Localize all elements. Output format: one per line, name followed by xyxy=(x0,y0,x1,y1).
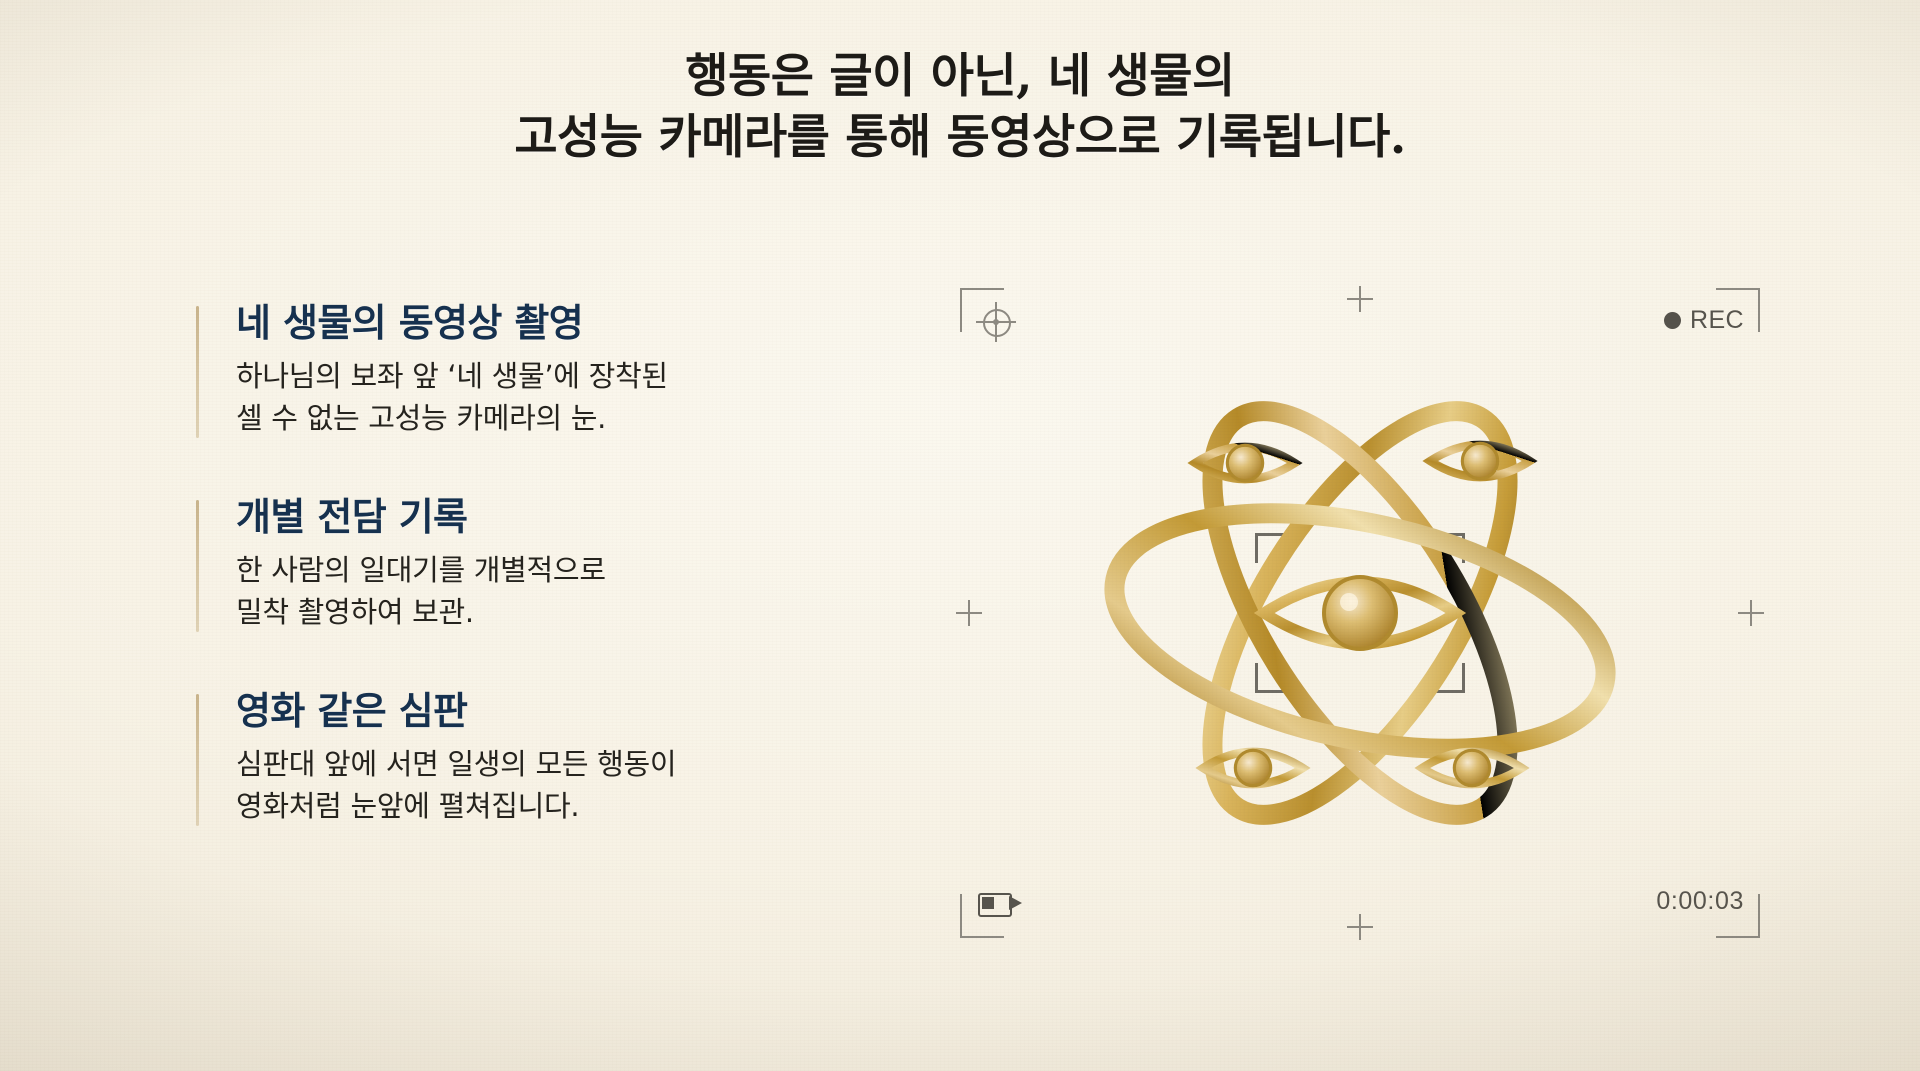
feature-body: 한 사람의 일대기를 개별적으로 밀착 촬영하여 보관. xyxy=(236,550,896,634)
feature-item-3: 영화 같은 심판 심판대 앞에 서면 일생의 모든 행동이 영화처럼 눈앞에 펼… xyxy=(196,688,896,828)
crosshair-mark-right-icon xyxy=(1738,600,1764,626)
feature-body: 심판대 앞에 서면 일생의 모든 행동이 영화처럼 눈앞에 펼쳐집니다. xyxy=(236,744,896,828)
accent-rule xyxy=(196,694,199,826)
page-title: 행동은 글이 아닌, 네 생물의 고성능 카메라를 통해 동영상으로 기록됩니다… xyxy=(0,46,1920,168)
accent-rule xyxy=(196,306,199,438)
feature-item-2: 개별 전담 기록 한 사람의 일대기를 개별적으로 밀착 촬영하여 보관. xyxy=(196,494,896,634)
crosshair-mark-left-icon xyxy=(956,600,982,626)
crosshair-mark-top-icon xyxy=(1347,286,1373,312)
feature-body-line-2: 영화처럼 눈앞에 펼쳐집니다. xyxy=(236,786,896,828)
feature-body-line-1: 심판대 앞에 서면 일생의 모든 행동이 xyxy=(236,744,896,786)
feature-heading: 개별 전담 기록 xyxy=(236,494,896,540)
feature-body: 하나님의 보좌 앞 ‘네 생물’에 장착된 셀 수 없는 고성능 카메라의 눈. xyxy=(236,356,896,440)
feature-item-1: 네 생물의 동영상 촬영 하나님의 보좌 앞 ‘네 생물’에 장착된 셀 수 없… xyxy=(196,300,896,440)
feature-body-line-2: 밀착 촬영하여 보관. xyxy=(236,592,896,634)
slide-canvas: 행동은 글이 아닌, 네 생물의 고성능 카메라를 통해 동영상으로 기록됩니다… xyxy=(0,0,1920,1071)
feature-body-line-1: 하나님의 보좌 앞 ‘네 생물’에 장착된 xyxy=(236,356,896,398)
title-line-2: 고성능 카메라를 통해 동영상으로 기록됩니다. xyxy=(0,107,1920,168)
accent-rule xyxy=(196,500,199,632)
feature-heading: 영화 같은 심판 xyxy=(236,688,896,734)
camera-viewfinder: REC 0:00:03 xyxy=(960,288,1760,938)
crosshair-mark-bottom-icon xyxy=(1347,914,1373,940)
feature-list: 네 생물의 동영상 촬영 하나님의 보좌 앞 ‘네 생물’에 장착된 셀 수 없… xyxy=(196,300,896,828)
feature-body-line-2: 셀 수 없는 고성능 카메라의 눈. xyxy=(236,398,896,440)
title-line-1: 행동은 글이 아닌, 네 생물의 xyxy=(685,49,1234,104)
feature-body-line-1: 한 사람의 일대기를 개별적으로 xyxy=(236,550,896,592)
feature-heading: 네 생물의 동영상 촬영 xyxy=(236,300,896,346)
golden-atom-orbit-eyes-graphic xyxy=(1010,313,1710,913)
